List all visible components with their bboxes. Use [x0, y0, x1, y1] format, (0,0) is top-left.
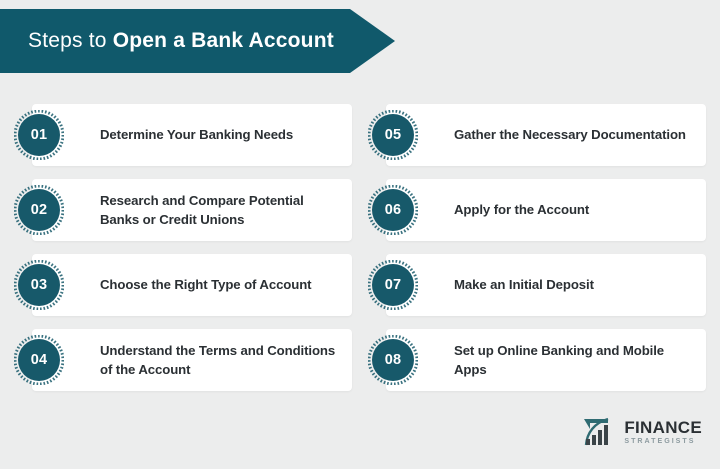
step-number: 05 [368, 110, 418, 160]
steps-grid: Determine Your Banking Needs 01 Gather t… [14, 104, 706, 391]
step-item-08[interactable]: Set up Online Banking and Mobile Apps 08 [368, 329, 706, 391]
page-title-prefix: Steps to [28, 29, 113, 52]
step-card[interactable]: Choose the Right Type of Account [32, 254, 352, 316]
step-item-04[interactable]: Understand the Terms and Conditions of t… [14, 329, 352, 391]
step-label: Apply for the Account [454, 200, 589, 219]
step-item-02[interactable]: Research and Compare Potential Banks or … [14, 179, 352, 241]
step-item-07[interactable]: Make an Initial Deposit 07 [368, 254, 706, 316]
brand-logo[interactable]: FINANCE STRATEGISTS [582, 417, 702, 447]
brand-name: FINANCE [624, 419, 702, 436]
step-label: Understand the Terms and Conditions of t… [100, 341, 340, 379]
step-number: 04 [14, 335, 64, 385]
step-item-05[interactable]: Gather the Necessary Documentation 05 [368, 104, 706, 166]
step-label: Choose the Right Type of Account [100, 275, 311, 294]
step-number-badge: 06 [368, 185, 418, 235]
step-number: 03 [14, 260, 64, 310]
step-number: 07 [368, 260, 418, 310]
step-number-badge: 08 [368, 335, 418, 385]
step-card[interactable]: Gather the Necessary Documentation [386, 104, 706, 166]
brand-logo-text: FINANCE STRATEGISTS [624, 419, 702, 445]
step-label: Set up Online Banking and Mobile Apps [454, 341, 694, 379]
infographic-root: Steps to Open a Bank Account Determine Y… [0, 0, 720, 469]
step-card[interactable]: Understand the Terms and Conditions of t… [32, 329, 352, 391]
step-number-badge: 05 [368, 110, 418, 160]
step-card[interactable]: Make an Initial Deposit [386, 254, 706, 316]
step-card[interactable]: Apply for the Account [386, 179, 706, 241]
page-title: Steps to Open a Bank Account [0, 29, 334, 53]
header-banner: Steps to Open a Bank Account [0, 9, 395, 73]
step-number: 06 [368, 185, 418, 235]
step-label: Gather the Necessary Documentation [454, 125, 686, 144]
step-number-badge: 07 [368, 260, 418, 310]
step-number-badge: 04 [14, 335, 64, 385]
step-item-06[interactable]: Apply for the Account 06 [368, 179, 706, 241]
step-number-badge: 01 [14, 110, 64, 160]
step-number: 08 [368, 335, 418, 385]
step-card[interactable]: Research and Compare Potential Banks or … [32, 179, 352, 241]
step-number: 01 [14, 110, 64, 160]
step-number-badge: 02 [14, 185, 64, 235]
step-label: Determine Your Banking Needs [100, 125, 293, 144]
finance-strategists-chart-icon [582, 417, 620, 447]
step-label: Make an Initial Deposit [454, 275, 594, 294]
step-card[interactable]: Set up Online Banking and Mobile Apps [386, 329, 706, 391]
step-number: 02 [14, 185, 64, 235]
step-item-03[interactable]: Choose the Right Type of Account 03 [14, 254, 352, 316]
brand-subtitle: STRATEGISTS [624, 438, 702, 445]
step-number-badge: 03 [14, 260, 64, 310]
step-item-01[interactable]: Determine Your Banking Needs 01 [14, 104, 352, 166]
page-title-strong: Open a Bank Account [113, 29, 334, 52]
step-label: Research and Compare Potential Banks or … [100, 191, 340, 229]
step-card[interactable]: Determine Your Banking Needs [32, 104, 352, 166]
